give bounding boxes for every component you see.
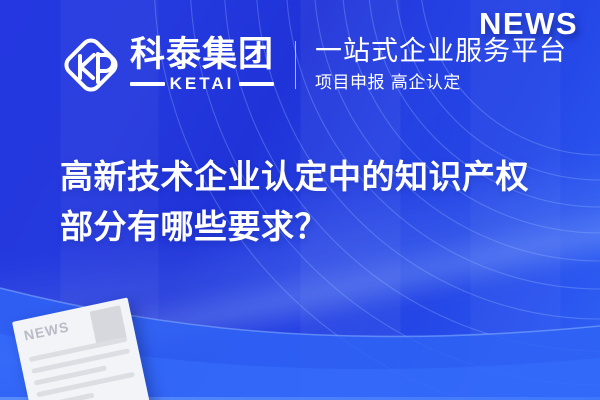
brand-dash-left [130, 82, 165, 86]
ketai-diamond-monogram-icon [60, 34, 122, 96]
news-banner: NEWS 科泰集团 KETAI [0, 0, 600, 400]
brand-wordmark: 科泰集团 KETAI [130, 38, 274, 93]
brand-dash-right [239, 82, 274, 86]
tagline-group: 一站式企业服务平台 项目申报 高企认定 [315, 37, 567, 93]
page-title: 高新技术企业认定中的知识产权部分有哪些要求？ [60, 152, 560, 252]
brand-name-en-row: KETAI [130, 75, 274, 92]
brand-header: 科泰集团 KETAI 一站式企业服务平台 项目申报 高企认定 [60, 34, 567, 96]
tagline-primary: 一站式企业服务平台 [315, 37, 567, 68]
tagline-secondary: 项目申报 高企认定 [315, 73, 567, 93]
brand-name-en: KETAI [170, 75, 235, 92]
brand-name-cn: 科泰集团 [130, 38, 274, 74]
header-divider [295, 41, 296, 89]
